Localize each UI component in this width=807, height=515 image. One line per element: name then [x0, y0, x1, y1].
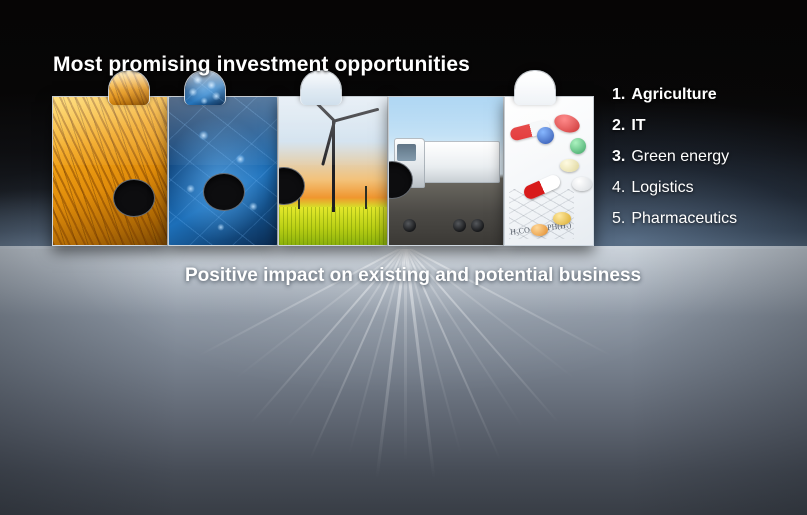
puzzle-piece-green-energy[interactable]	[278, 96, 388, 246]
opportunity-label: Green energy	[631, 148, 729, 166]
opportunity-number: 4.	[612, 179, 625, 197]
opportunities-list: 1.Agriculture2.IT3.Green energy4.Logisti…	[612, 86, 802, 241]
opportunity-label: IT	[631, 117, 645, 135]
puzzle-piece-agriculture[interactable]	[52, 96, 168, 246]
pill-cream	[560, 159, 579, 172]
pill-green	[570, 138, 586, 154]
opportunity-number: 5.	[612, 210, 625, 228]
truck-trailer	[419, 141, 501, 183]
piece-socket	[203, 173, 245, 211]
puzzle-piece-logistics[interactable]	[388, 96, 504, 246]
opportunity-number: 1.	[612, 86, 625, 104]
page-title: Most promising investment opportunities	[53, 53, 470, 77]
pharmaceutics-artwork: H₃CO Cb ⁼PH(H₃)	[505, 97, 593, 245]
truck-window	[397, 144, 416, 160]
horizon-line	[0, 246, 807, 249]
puzzle-piece-it[interactable]	[168, 96, 278, 246]
pylon	[365, 186, 367, 210]
slide-caption: Positive impact on existing and potentia…	[185, 265, 641, 287]
opportunity-label: Agriculture	[631, 86, 716, 104]
turbine-blade	[334, 107, 379, 122]
opportunity-number: 2.	[612, 117, 625, 135]
puzzle-piece-pharmaceutics[interactable]: H₃CO Cb ⁼PH(H₃)	[504, 96, 594, 246]
puzzle-strip: H₃CO Cb ⁼PH(H₃)	[52, 96, 594, 246]
piece-socket	[113, 179, 155, 217]
puzzle-knob-pharmaceutics	[514, 70, 556, 105]
opportunity-number: 3.	[612, 148, 625, 166]
opportunity-item-pharmaceutics[interactable]: 5.Pharmaceutics	[612, 210, 802, 241]
opportunity-item-it[interactable]: 2.IT	[612, 117, 802, 148]
knob-gloss	[515, 71, 555, 105]
opportunity-item-green-energy[interactable]: 3.Green energy	[612, 148, 802, 179]
opportunity-label: Pharmaceutics	[631, 210, 737, 228]
truck-wheel	[403, 219, 416, 232]
opportunity-label: Logistics	[631, 179, 693, 197]
it-artwork	[169, 97, 277, 245]
truck-wheel	[453, 219, 466, 232]
pill-red-oval	[552, 111, 582, 135]
opportunity-item-agriculture[interactable]: 1.Agriculture	[612, 86, 802, 117]
truck-wheel	[471, 219, 484, 232]
agriculture-artwork	[53, 97, 167, 245]
pill-white	[572, 177, 592, 191]
pill-blue	[537, 127, 554, 144]
slide-canvas: H₃CO Cb ⁼PH(H₃) Most promising investmen…	[0, 0, 807, 515]
opportunity-item-logistics[interactable]: 4.Logistics	[612, 179, 802, 210]
